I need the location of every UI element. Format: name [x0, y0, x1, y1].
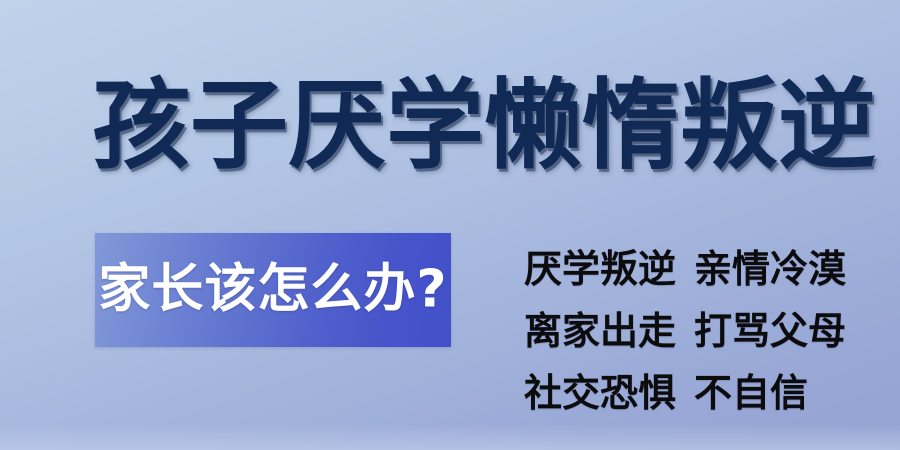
symptom-row: 社交恐惧 不自信	[524, 362, 864, 424]
symptom-term: 厌学叛逆	[524, 238, 676, 300]
bottom-gradient-haze	[0, 424, 900, 450]
symptom-term: 亲情冷漠	[694, 238, 846, 300]
question-banner-text: 家长该怎么办?	[95, 263, 451, 318]
symptom-list: 厌学叛逆 亲情冷漠 离家出走 打骂父母 社交恐惧 不自信	[524, 238, 864, 424]
symptom-term: 社交恐惧	[524, 362, 676, 424]
poster-canvas: 孩子厌学 懒惰 叛逆 家长该怎么办? 厌学叛逆 亲情冷漠 离家出走 打骂父母 社…	[0, 0, 900, 450]
headline-segment-1: 孩子厌学	[92, 77, 484, 175]
symptom-term: 离家出走	[524, 300, 676, 362]
headline: 孩子厌学 懒惰 叛逆	[92, 62, 832, 190]
symptom-term: 不自信	[694, 362, 808, 424]
question-banner: 家长该怎么办?	[95, 233, 451, 347]
symptom-row: 厌学叛逆 亲情冷漠	[524, 238, 864, 300]
symptom-row: 离家出走 打骂父母	[524, 300, 864, 362]
headline-segment-3: 叛逆	[680, 77, 876, 175]
headline-segment-2: 懒惰	[484, 77, 680, 175]
symptom-term: 打骂父母	[694, 300, 846, 362]
